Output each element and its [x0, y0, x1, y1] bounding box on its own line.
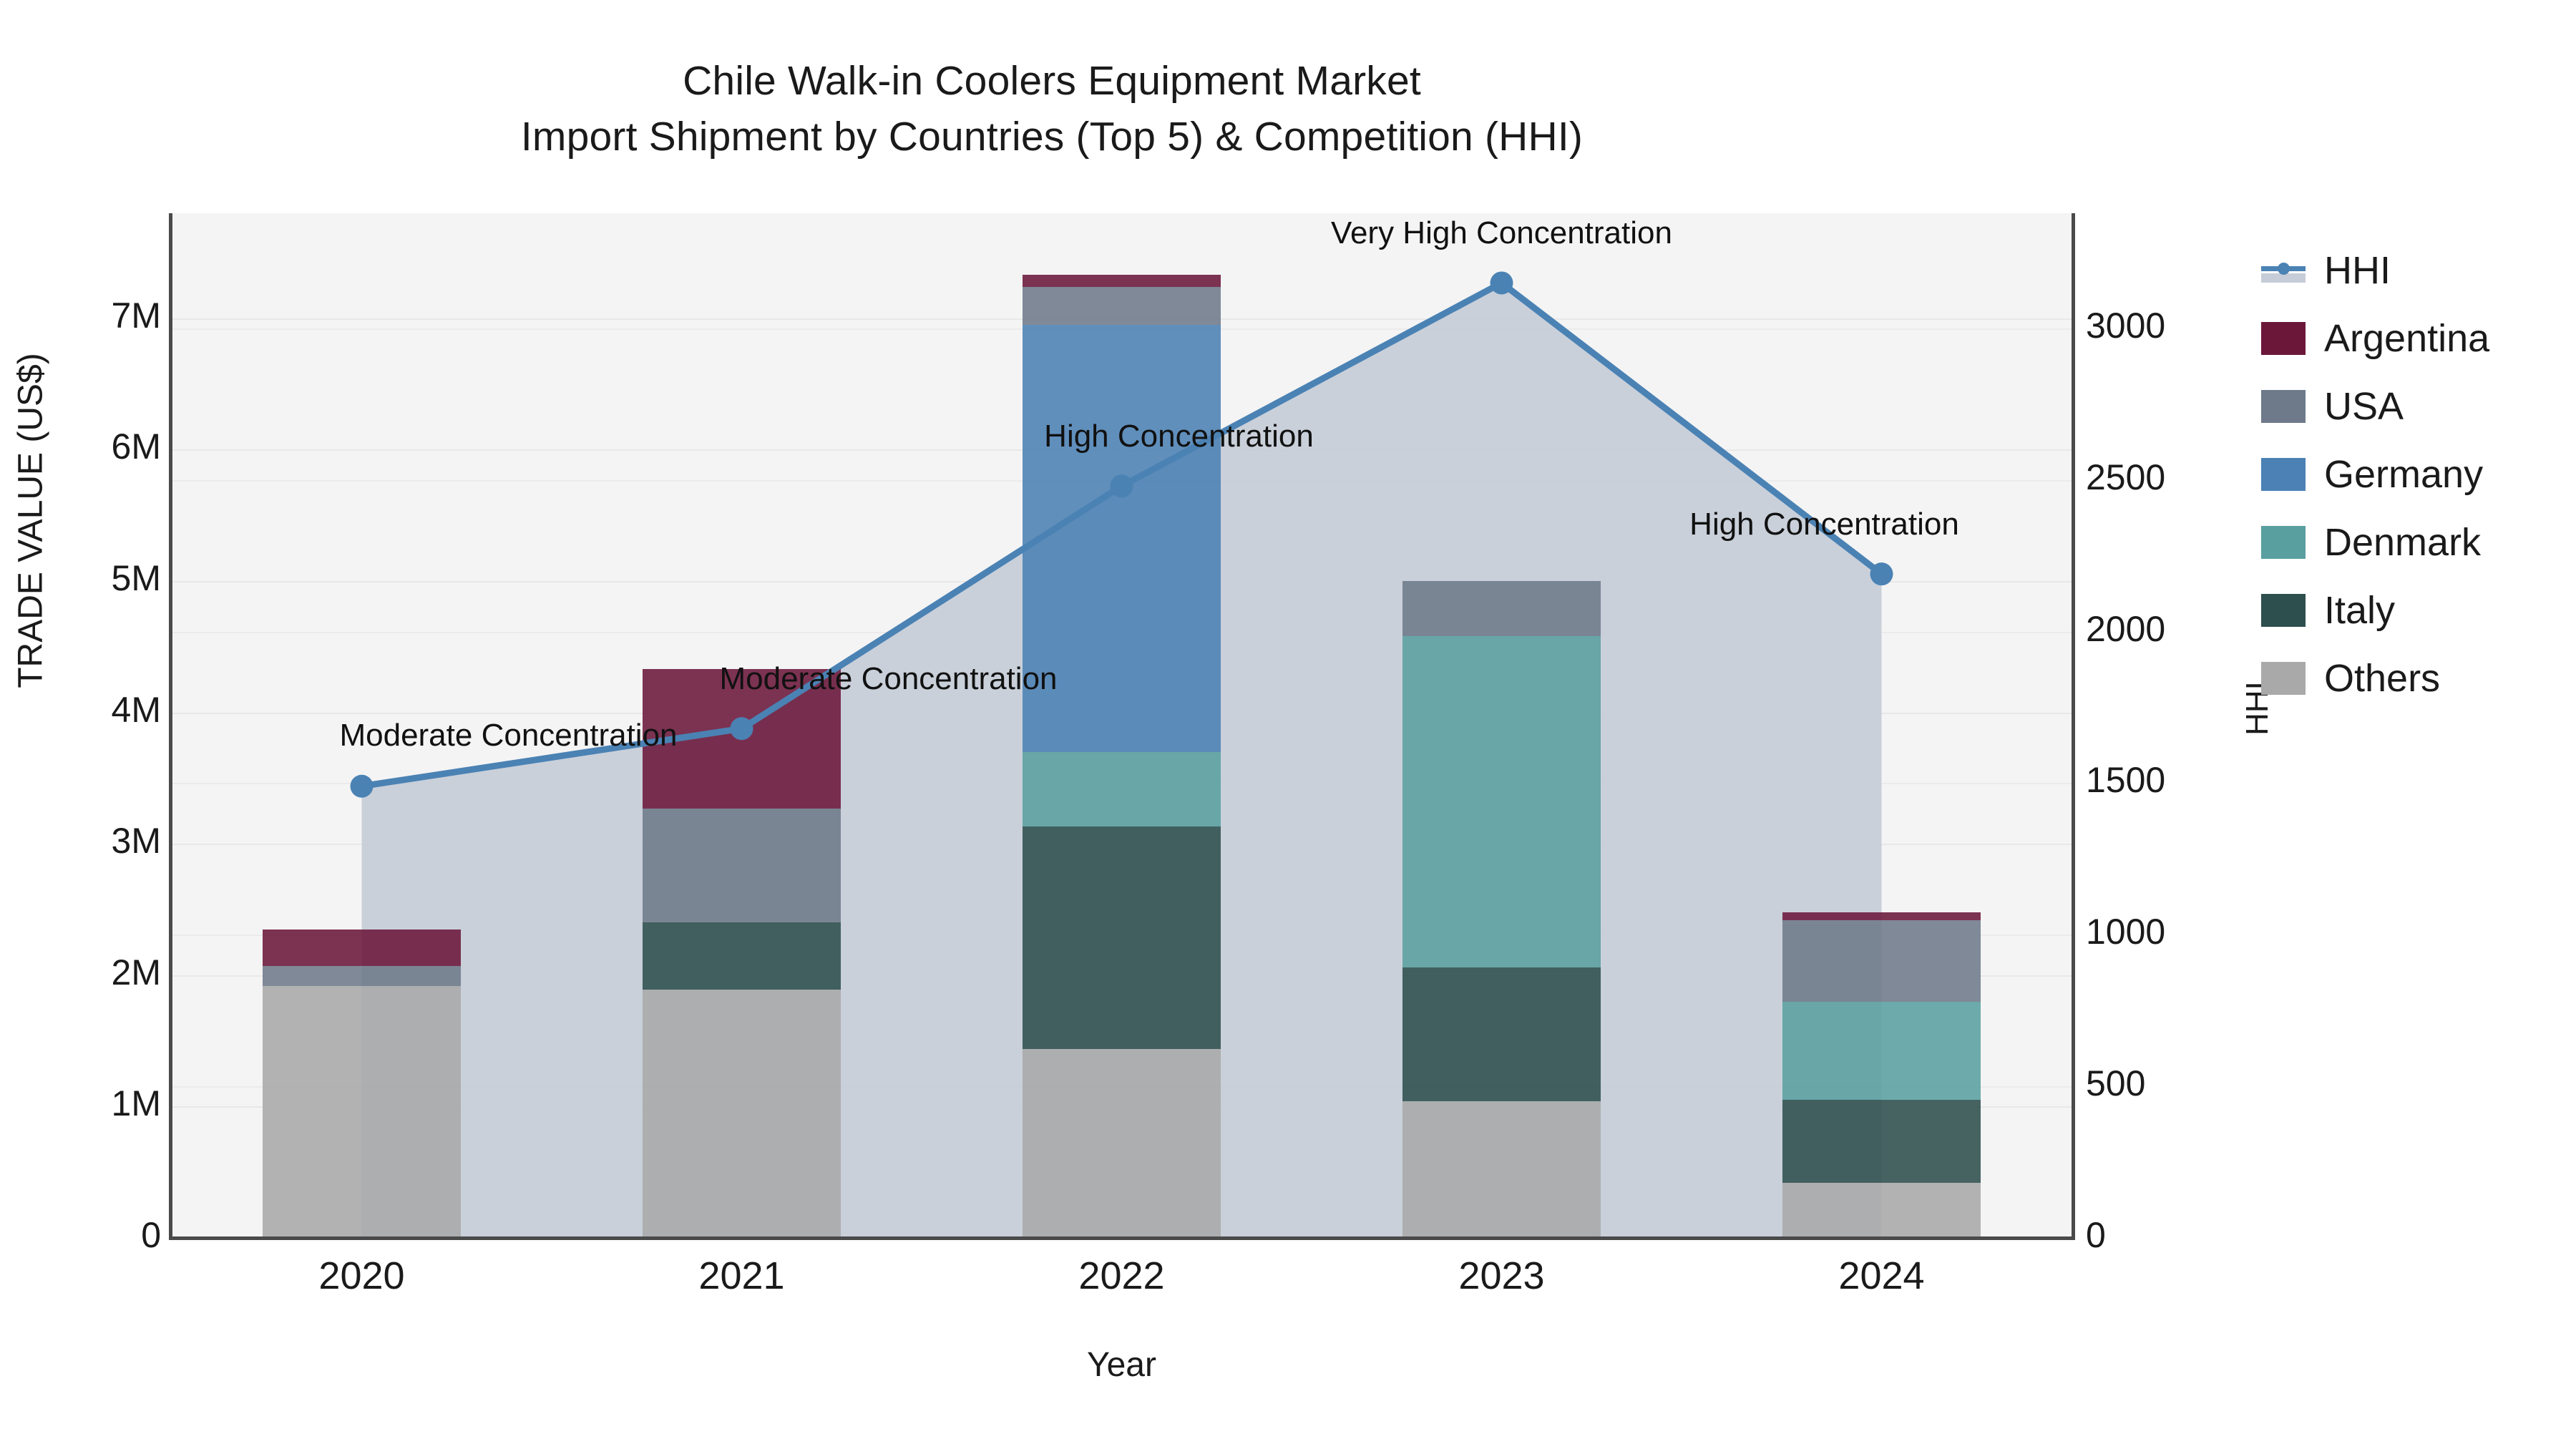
x-tick-2023: 2023 — [1458, 1254, 1544, 1298]
legend-item-hhi[interactable]: HHI — [2261, 236, 2569, 304]
x-tick-2021: 2021 — [698, 1254, 784, 1298]
legend-item-others[interactable]: Others — [2261, 644, 2569, 712]
hhi-data-point[interactable] — [351, 775, 374, 798]
y-tick-right: 2000 — [2086, 608, 2165, 650]
chart-title-line-2: Import Shipment by Countries (Top 5) & C… — [0, 109, 2104, 165]
y-tick-right: 0 — [2086, 1214, 2106, 1256]
annotation-2021: Moderate Concentration — [719, 661, 1057, 697]
y-tick-right: 1000 — [2086, 911, 2165, 952]
legend-item-denmark[interactable]: Denmark — [2261, 508, 2569, 576]
hhi-data-point[interactable] — [731, 717, 753, 740]
x-axis-spine — [169, 1236, 2074, 1240]
y-axis-left-title: TRADE VALUE (US$) — [11, 321, 51, 721]
legend-label: HHI — [2324, 248, 2391, 293]
y-tick-left: 2M — [0, 952, 161, 993]
y-tick-right: 3000 — [2086, 305, 2165, 346]
legend-label: Denmark — [2324, 520, 2481, 565]
legend-line-marker-icon — [2261, 254, 2306, 287]
annotation-2024: High Concentration — [1689, 507, 1959, 542]
x-axis-title: Year — [172, 1345, 2072, 1385]
y-tick-left: 0 — [0, 1214, 161, 1256]
annotation-2022: High Concentration — [1044, 419, 1314, 454]
legend-label: Italy — [2324, 588, 2395, 633]
legend-label: Others — [2324, 656, 2440, 701]
legend-swatch-icon — [2261, 322, 2306, 355]
legend-item-usa[interactable]: USA — [2261, 372, 2569, 440]
legend-item-germany[interactable]: Germany — [2261, 440, 2569, 508]
y-axis-right-spine — [2072, 213, 2075, 1240]
legend-swatch-icon — [2261, 458, 2306, 491]
legend-label: Argentina — [2324, 316, 2489, 361]
hhi-data-point[interactable] — [1111, 474, 1133, 497]
annotation-2023: Very High Concentration — [1331, 215, 1672, 251]
chart-title-line-1: Chile Walk-in Coolers Equipment Market — [0, 54, 2104, 109]
legend-label: Germany — [2324, 452, 2483, 497]
legend-label: USA — [2324, 384, 2404, 429]
x-tick-2024: 2024 — [1838, 1254, 1924, 1298]
legend-swatch-icon — [2261, 662, 2306, 695]
legend-swatch-icon — [2261, 594, 2306, 627]
chart-canvas: Chile Walk-in Coolers Equipment Market I… — [0, 0, 2576, 1449]
y-tick-left: 1M — [0, 1083, 161, 1124]
x-tick-2022: 2022 — [1078, 1254, 1164, 1298]
hhi-data-point[interactable] — [1870, 562, 1893, 585]
legend-swatch-icon — [2261, 390, 2306, 423]
annotation-2020: Moderate Concentration — [339, 718, 677, 753]
y-tick-right: 2500 — [2086, 457, 2165, 498]
legend-item-italy[interactable]: Italy — [2261, 576, 2569, 644]
y-tick-left: 3M — [0, 820, 161, 862]
legend-item-argentina[interactable]: Argentina — [2261, 304, 2569, 372]
x-tick-2020: 2020 — [318, 1254, 404, 1298]
legend-swatch-icon — [2261, 526, 2306, 559]
hhi-line-path — [362, 283, 1882, 786]
y-tick-right: 1500 — [2086, 759, 2165, 801]
chart-legend: HHIArgentinaUSAGermanyDenmarkItalyOthers — [2261, 236, 2569, 712]
chart-title: Chile Walk-in Coolers Equipment Market I… — [0, 54, 2104, 165]
y-tick-right: 500 — [2086, 1063, 2145, 1104]
hhi-data-point[interactable] — [1491, 271, 1513, 294]
y-axis-left-spine — [169, 213, 172, 1240]
